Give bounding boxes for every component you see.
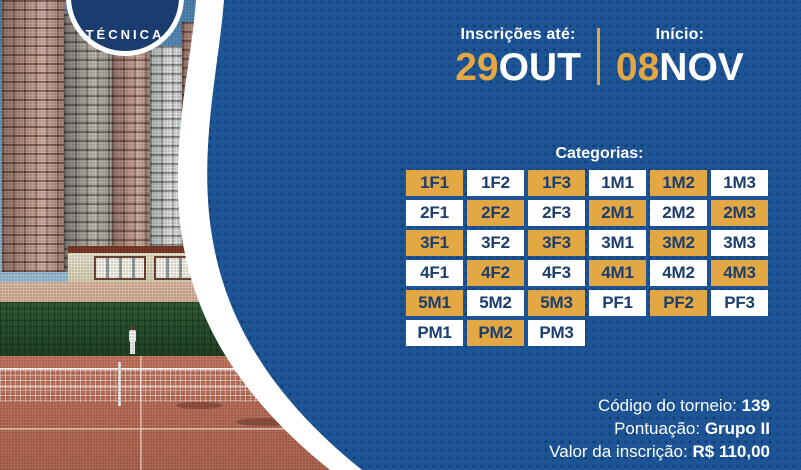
points-row: Pontuação: Grupo II xyxy=(549,418,770,441)
category-cell[interactable]: 1M2 xyxy=(650,170,707,196)
registration-deadline-label: Inscrições até: xyxy=(455,26,581,44)
fee-value: R$ 110,00 xyxy=(692,442,770,461)
category-cell[interactable]: 2M2 xyxy=(650,200,707,226)
tournament-info: Código do torneio: 139 Pontuação: Grupo … xyxy=(549,395,770,464)
fee-row: Valor da inscrição: R$ 110,00 xyxy=(549,441,770,464)
tournament-poster: TÉCNICA Inscrições até: 29OUT Início: 08… xyxy=(0,0,801,470)
registration-deadline-value: 29OUT xyxy=(455,48,581,87)
category-cell[interactable]: 5M2 xyxy=(467,290,524,316)
trees xyxy=(214,248,344,314)
tennis-club-photo xyxy=(0,0,430,470)
category-cell[interactable]: PM1 xyxy=(406,320,463,346)
category-cell[interactable]: 1M1 xyxy=(589,170,646,196)
category-cell[interactable]: 1M3 xyxy=(711,170,768,196)
category-cell[interactable]: 2M3 xyxy=(711,200,768,226)
category-cell[interactable]: 3F3 xyxy=(528,230,585,256)
category-cell[interactable]: 3M2 xyxy=(650,230,707,256)
category-cell[interactable]: 3F1 xyxy=(406,230,463,256)
tournament-code-value: 139 xyxy=(742,396,770,415)
category-cell[interactable]: 1F2 xyxy=(467,170,524,196)
category-cell[interactable]: 3M1 xyxy=(589,230,646,256)
category-cell[interactable]: 3M3 xyxy=(711,230,768,256)
category-cell[interactable]: 2M1 xyxy=(589,200,646,226)
category-cell[interactable]: 4F1 xyxy=(406,260,463,286)
category-cell[interactable]: 5M3 xyxy=(528,290,585,316)
start-date-block: Início: 08NOV xyxy=(600,26,760,87)
category-cell[interactable]: 1F1 xyxy=(406,170,463,196)
category-cell[interactable]: 4M1 xyxy=(589,260,646,286)
net-post-right xyxy=(314,362,317,406)
registration-deadline-day: 29 xyxy=(455,46,498,89)
start-date-month: NOV xyxy=(659,46,744,89)
start-date-value: 08NOV xyxy=(616,48,744,87)
registration-deadline-block: Inscrições até: 29OUT xyxy=(439,26,597,87)
start-date-day: 08 xyxy=(616,46,659,89)
category-cell[interactable]: 2F2 xyxy=(467,200,524,226)
start-date-label: Início: xyxy=(616,26,744,44)
categories-grid: 1F11F21F31M11M21M32F12F22F32M12M22M33F13… xyxy=(406,170,772,346)
category-cell[interactable]: 3F2 xyxy=(467,230,524,256)
points-label: Pontuação: xyxy=(614,419,700,438)
category-cell[interactable]: 4M2 xyxy=(650,260,707,286)
category-cell[interactable]: 1F3 xyxy=(528,170,585,196)
halftone-grain xyxy=(0,0,430,470)
points-value: Grupo II xyxy=(705,419,770,438)
category-cell[interactable]: PF2 xyxy=(650,290,707,316)
tournament-code-label: Código do torneio: xyxy=(598,396,737,415)
category-cell[interactable]: PM3 xyxy=(528,320,585,346)
category-cell[interactable]: 2F3 xyxy=(528,200,585,226)
category-cell[interactable]: 4F3 xyxy=(528,260,585,286)
category-cell[interactable]: PM2 xyxy=(467,320,524,346)
dates-section: Inscrições até: 29OUT Início: 08NOV xyxy=(398,26,801,87)
category-cell[interactable]: PF1 xyxy=(589,290,646,316)
badge-label: TÉCNICA xyxy=(86,27,165,42)
photo-image xyxy=(0,0,430,470)
content-column: Inscrições até: 29OUT Início: 08NOV Cate… xyxy=(398,0,801,470)
tournament-code-row: Código do torneio: 139 xyxy=(549,395,770,418)
categories-title: Categorias: xyxy=(398,145,801,163)
registration-deadline-month: OUT xyxy=(499,46,581,89)
fee-label: Valor da inscrição: xyxy=(549,442,688,461)
category-cell[interactable]: 2F1 xyxy=(406,200,463,226)
category-cell[interactable]: PF3 xyxy=(711,290,768,316)
category-cell[interactable]: 4M3 xyxy=(711,260,768,286)
category-cell[interactable]: 4F2 xyxy=(467,260,524,286)
category-cell[interactable]: 5M1 xyxy=(406,290,463,316)
